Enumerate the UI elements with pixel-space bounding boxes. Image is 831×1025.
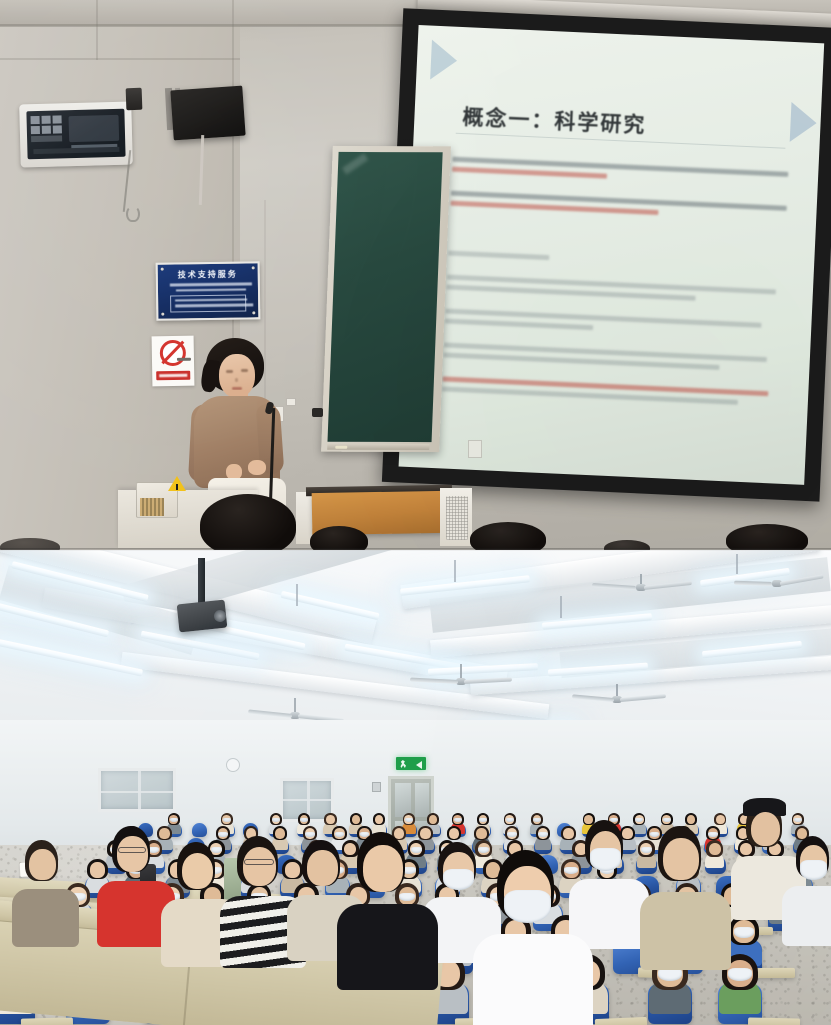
slide-text-line: [445, 318, 593, 330]
audience-member-face: [117, 836, 148, 871]
green-chalkboard: [321, 146, 451, 452]
tablet-desk: [748, 1017, 800, 1025]
slide-text-line: [448, 251, 549, 261]
eyeglasses: [118, 847, 146, 853]
audience-member-face: [90, 862, 105, 877]
slide-text-line: [452, 167, 607, 179]
technical-support-contact-box: [170, 294, 246, 312]
audience-member-face: [663, 838, 699, 880]
technical-support-sign-title: 技术支持服务: [164, 268, 252, 280]
top-photo-podium-scene: 概念一：科学研究 技术支持服务: [0, 0, 831, 550]
eyeglasses: [244, 859, 274, 865]
wall-seam: [96, 0, 98, 60]
slide-body-bullets: [441, 52, 799, 68]
screenshot-root: 概念一：科学研究 技术支持服务: [0, 0, 831, 1025]
face-mask: [305, 832, 315, 837]
slide-arrow-right-icon: [790, 102, 818, 143]
audience-member-body: [12, 889, 80, 947]
audience-member-face: [307, 850, 338, 885]
audience-member: [228, 836, 294, 968]
tablet-desk: [21, 1017, 73, 1025]
audience-member-face: [29, 849, 55, 880]
audience-member-face: [563, 828, 573, 839]
audience-member: [104, 826, 164, 952]
screen-frame: 概念一：科学研究: [382, 8, 831, 501]
audience-member-face: [476, 828, 486, 839]
slide-bullet: [448, 251, 784, 276]
wall-mounted-sensor: [126, 88, 143, 111]
audience-head-silhouette: [200, 494, 296, 550]
face-mask: [405, 818, 413, 822]
audience-member-body: [473, 934, 593, 1025]
warning-exclamation-glyph: [176, 484, 178, 490]
audience-member-face: [751, 812, 780, 846]
face-mask: [507, 832, 517, 837]
audience-member-face: [363, 845, 403, 891]
audience-member-face: [375, 815, 384, 824]
audience-head-silhouette: [726, 524, 808, 550]
slide-bullet: [452, 157, 789, 192]
presenter-hand: [248, 460, 266, 475]
face-mask: [335, 832, 345, 837]
slide-bullet: [446, 275, 783, 310]
audience-member-face: [243, 847, 277, 886]
audience-member-face: [326, 815, 335, 824]
slide-bullet: [442, 376, 779, 411]
audience-member-face: [716, 815, 725, 824]
audience-member: [576, 820, 638, 950]
face-mask: [728, 968, 752, 981]
audience-member-body: [782, 886, 831, 946]
audience-member: [788, 836, 831, 956]
face-mask: [538, 832, 548, 837]
audience-member: [346, 832, 424, 978]
face-mask: [506, 818, 514, 822]
audience-member-body: [337, 904, 438, 990]
audience-member-face: [182, 853, 214, 890]
wall-seam: [0, 58, 240, 60]
audience-member-body: [640, 892, 731, 970]
wall-jack: [312, 408, 323, 417]
face-mask: [223, 818, 231, 822]
slide-bullet: [450, 191, 787, 226]
audience-member: [18, 840, 70, 958]
chalk-piece: [335, 446, 347, 449]
tablet-desk: [595, 1017, 647, 1025]
equipment-vent: [140, 498, 164, 516]
screen-surface: 概念一：科学研究: [399, 25, 825, 485]
face-mask: [590, 848, 622, 871]
control-tablet-screen: [26, 109, 125, 160]
audience-member-face: [687, 815, 696, 824]
photo-seam: [0, 548, 831, 551]
wall-outlet: [468, 440, 482, 458]
face-mask: [454, 818, 462, 822]
audience-head-silhouette: [310, 526, 368, 550]
cable-hook: [126, 206, 140, 222]
face-mask: [663, 818, 671, 822]
slide-bullet: [443, 342, 780, 377]
face-mask: [658, 968, 682, 981]
wall-control-tablet[interactable]: [19, 102, 133, 168]
audience-member: [484, 850, 576, 1010]
slide-arrow-left-icon: [430, 40, 458, 81]
audience-member: [648, 826, 718, 964]
face-mask: [218, 832, 228, 837]
face-mask: [734, 927, 754, 938]
slide-bullet: [445, 308, 782, 343]
face-mask: [443, 869, 474, 890]
audience-head-silhouette: [470, 522, 546, 550]
speaker-grille: [446, 496, 468, 540]
audience-member-face: [449, 828, 459, 839]
bottom-photo-audience-scene: [0, 550, 831, 1025]
face-mask: [170, 818, 178, 822]
technical-support-sign: 技术支持服务: [156, 261, 261, 320]
projected-slide: 概念一：科学研究: [399, 25, 825, 485]
audience-member-face: [352, 815, 361, 824]
face-mask: [504, 890, 551, 922]
auditorium-chair[interactable]: [192, 823, 207, 837]
wall-monitor: [170, 86, 245, 141]
chalkboard-surface: [327, 152, 442, 442]
face-mask: [800, 860, 827, 879]
